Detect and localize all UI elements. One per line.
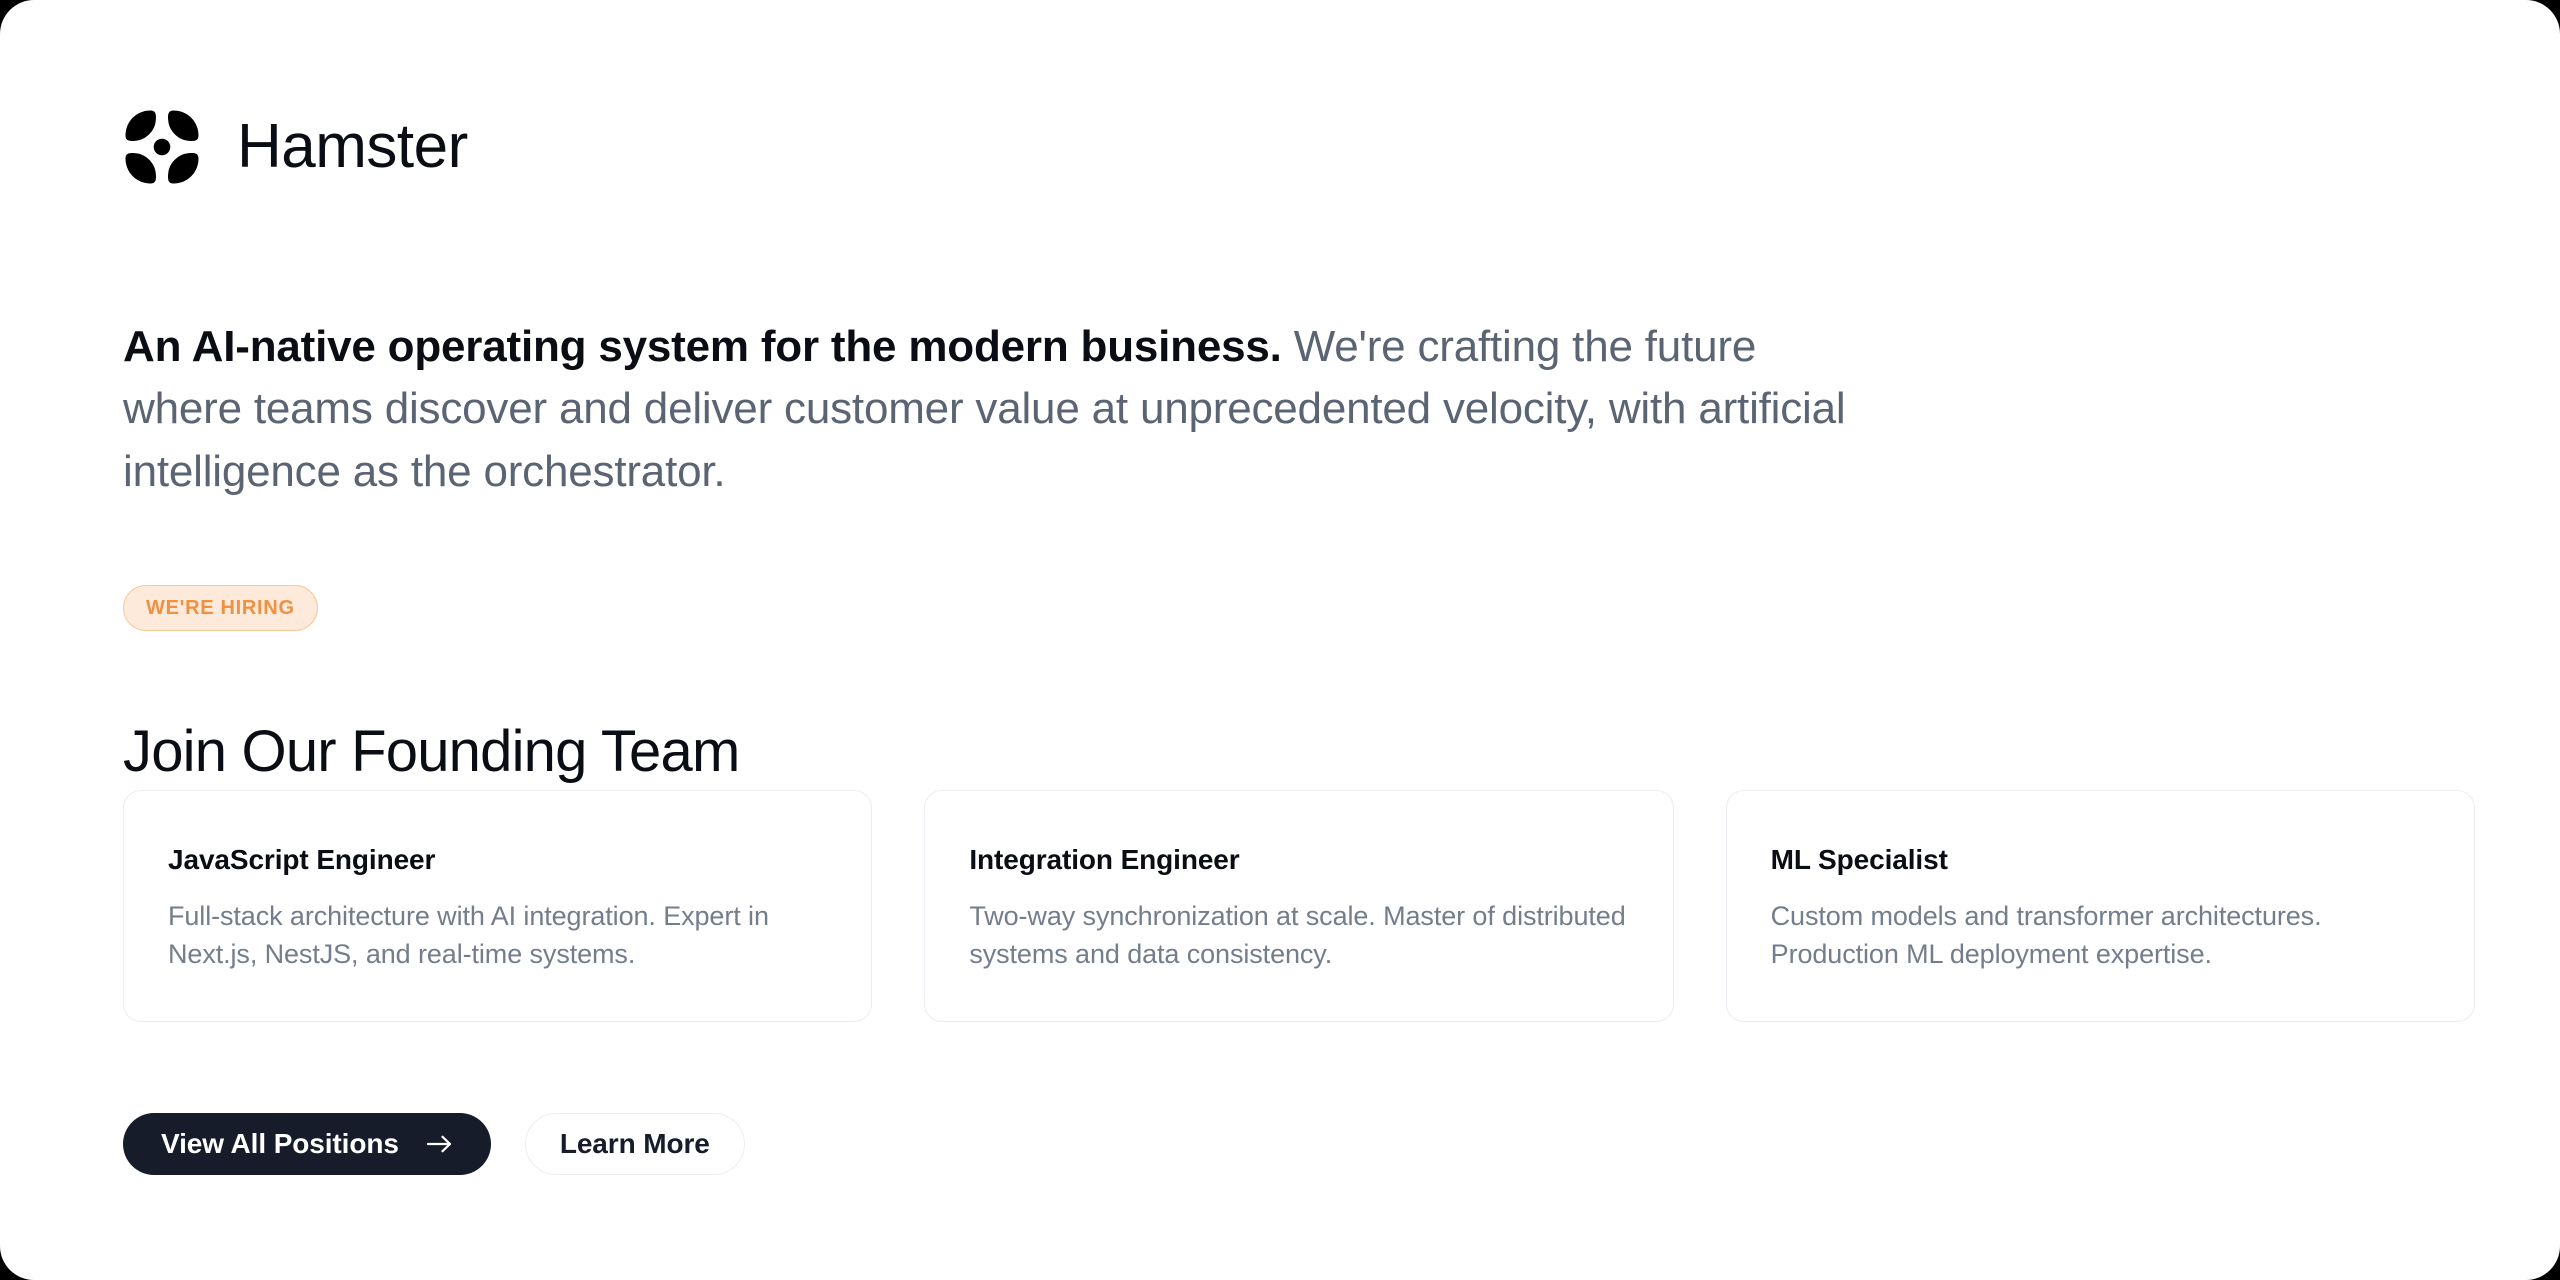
job-card-list: JavaScript Engineer Full-stack architect… [123,790,2475,1022]
hero-tagline-strong: An AI-native operating system for the mo… [123,322,1282,371]
view-all-positions-label: View All Positions [161,1128,399,1160]
job-card-integration-engineer[interactable]: Integration Engineer Two-way synchroniza… [924,790,1673,1022]
brand-name: Hamster [237,116,468,178]
screen: Hamster An AI-native operating system fo… [0,0,2560,1280]
arrow-right-icon [425,1133,455,1155]
job-card-description: Full-stack architecture with AI integrat… [168,897,829,974]
brand-lockup[interactable]: Hamster [123,108,468,186]
action-bar: View All Positions Learn More [123,1113,745,1175]
page-container: Hamster An AI-native operating system fo… [0,0,2560,1280]
job-card-title: ML Specialist [1771,843,2432,877]
clover-four-dot-logo-icon [123,108,201,186]
job-card-description: Custom models and transformer architectu… [1771,897,2432,974]
job-card-title: JavaScript Engineer [168,843,829,877]
status-badge-hiring: WE'RE HIRING [123,585,318,631]
job-card-description: Two-way synchronization at scale. Master… [969,897,1630,974]
content-column: Hamster An AI-native operating system fo… [123,0,2475,1280]
learn-more-button[interactable]: Learn More [525,1113,745,1175]
view-all-positions-button[interactable]: View All Positions [123,1113,491,1175]
page-title: Join Our Founding Team [123,720,739,784]
job-card-ml-specialist[interactable]: ML Specialist Custom models and transfor… [1726,790,2475,1022]
job-card-title: Integration Engineer [969,843,1630,877]
hero-tagline: An AI-native operating system for the mo… [123,316,1883,503]
job-card-javascript-engineer[interactable]: JavaScript Engineer Full-stack architect… [123,790,872,1022]
